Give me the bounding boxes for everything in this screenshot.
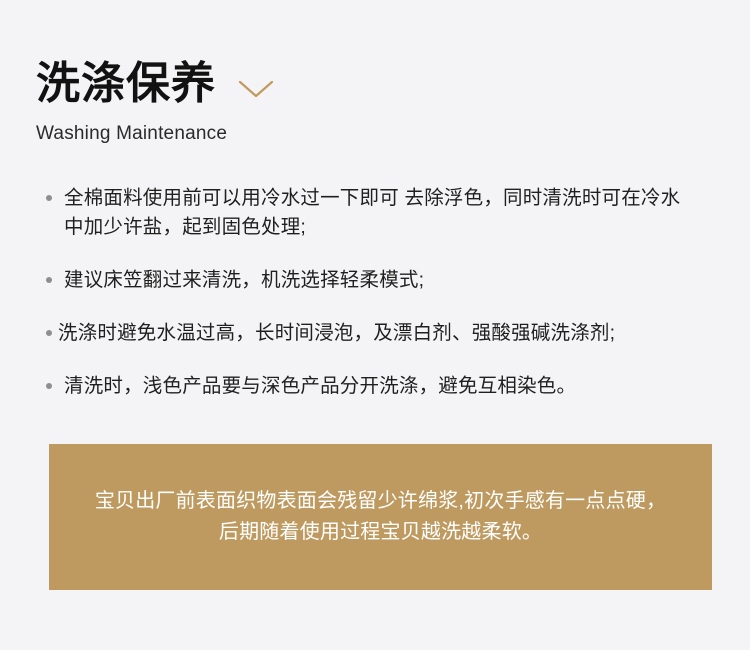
tip-text: 全棉面料使用前可以用冷水过一下即可 去除浮色，同时清洗时可在冷水中加少许盐，起到…: [64, 184, 690, 242]
tip-text: 洗涤时避免水温过高，长时间浸泡，及漂白剂、强酸强碱洗涤剂;: [58, 319, 615, 348]
bullet-dot-icon: [46, 195, 52, 201]
list-item: 全棉面料使用前可以用冷水过一下即可 去除浮色，同时清洗时可在冷水中加少许盐，起到…: [46, 184, 706, 242]
bullet-dot-icon: [46, 330, 52, 336]
list-item: 清洗时，浅色产品要与深色产品分开洗涤，避免互相染色。: [46, 372, 706, 401]
callout-line-1: 宝贝出厂前表面织物表面会残留少许绵浆,初次手感有一点点硬，: [95, 486, 666, 517]
chevron-down-icon: [238, 79, 274, 99]
section-title-cn: 洗涤保养: [36, 58, 216, 110]
bullet-dot-icon: [46, 383, 52, 389]
list-item: 建议床笠翻过来清洗，机洗选择轻柔模式;: [46, 266, 706, 295]
callout-line-2: 后期随着使用过程宝贝越洗越柔软。: [219, 517, 542, 548]
section-title-en: Washing Maintenance: [36, 122, 696, 146]
bullet-dot-icon: [46, 277, 52, 283]
title-row: 洗涤保养: [36, 58, 696, 110]
washing-maintenance-section: 洗涤保养 Washing Maintenance 全棉面料使用前可以用冷水过一下…: [0, 0, 750, 650]
washing-tips-list: 全棉面料使用前可以用冷水过一下即可 去除浮色，同时清洗时可在冷水中加少许盐，起到…: [46, 184, 706, 401]
note-callout-box: 宝贝出厂前表面织物表面会残留少许绵浆,初次手感有一点点硬， 后期随着使用过程宝贝…: [49, 444, 712, 590]
tip-text: 建议床笠翻过来清洗，机洗选择轻柔模式;: [64, 266, 424, 295]
list-item: 洗涤时避免水温过高，长时间浸泡，及漂白剂、强酸强碱洗涤剂;: [46, 319, 706, 348]
tip-text: 清洗时，浅色产品要与深色产品分开洗涤，避免互相染色。: [64, 372, 576, 401]
section-header: 洗涤保养 Washing Maintenance: [36, 58, 696, 146]
